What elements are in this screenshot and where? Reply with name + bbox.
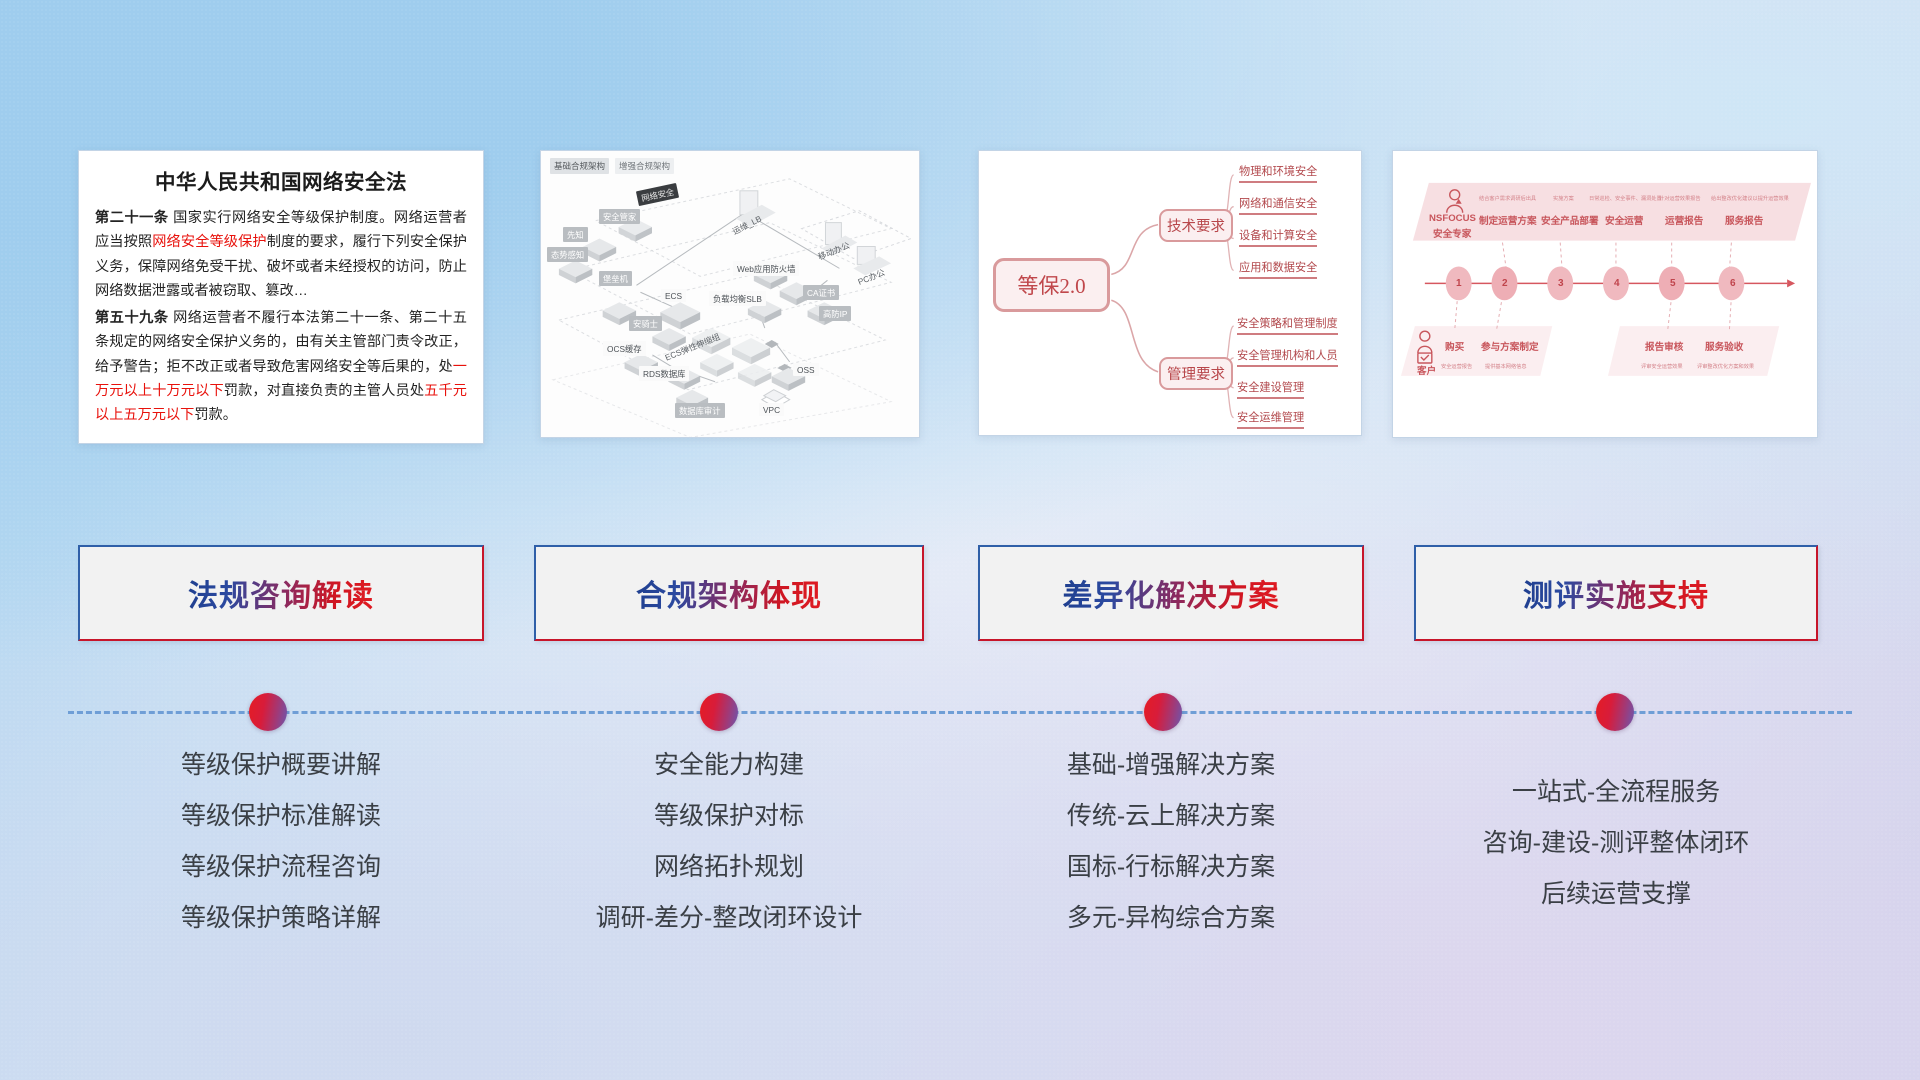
mindmap-leaf-tech-1: 物理和环境安全	[1239, 163, 1317, 183]
mindmap-leaf-mgmt-1: 安全策略和管理制度	[1237, 315, 1338, 335]
nsfocus-bottom-2-sub: 提供基本网络信息	[1485, 363, 1527, 370]
card-dengbao-mindmap[interactable]: 等保2.0 技术要求 管理要求 物理和环境安全 网络和通信安全 设备和计算安全 …	[978, 150, 1362, 436]
arch-label-situational-awareness: 态势感知	[547, 247, 588, 262]
list-item: 等级保护概要讲解	[78, 740, 484, 791]
card-cybersecurity-law[interactable]: 中华人民共和国网络安全法 第二十一条 国家实行网络安全等级保护制度。网络运营者应…	[78, 150, 484, 444]
timeline-dot-2[interactable]	[700, 693, 738, 731]
nsfocus-step-6-title: 服务报告	[1725, 213, 1763, 227]
list-item: 国标-行标解决方案	[978, 842, 1364, 893]
mindmap-root-node[interactable]: 等保2.0	[993, 258, 1110, 312]
list-item: 基础-增强解决方案	[978, 740, 1364, 791]
nsfocus-step-number-4: 4	[1614, 278, 1620, 289]
headline-label-1: 法规咨询解读	[188, 571, 374, 615]
list-item: 传统-云上解决方案	[978, 791, 1364, 842]
headline-label-3: 差异化解决方案	[1063, 571, 1280, 615]
timeline-dashed-line	[68, 711, 1852, 714]
law-text-wrapper: 中华人民共和国网络安全法 第二十一条 国家实行网络安全等级保护制度。网络运营者应…	[79, 151, 483, 438]
nsfocus-step-5-title: 运营报告	[1665, 213, 1703, 227]
nsfocus-step-number-6: 6	[1730, 278, 1736, 289]
feature-list-3: 基础-增强解决方案 传统-云上解决方案 国标-行标解决方案 多元-异构综合方案	[978, 740, 1364, 944]
nsfocus-step-2-sub: 结合客户需求调研后出具	[1479, 195, 1536, 202]
mindmap-branch-technical[interactable]: 技术要求	[1159, 209, 1233, 242]
feature-list-4: 一站式-全流程服务 咨询-建设-测评整体闭环 后续运营支撑	[1414, 767, 1818, 920]
nsfocus-step-number-2: 2	[1502, 278, 1508, 289]
nsfocus-step-number-1: 1	[1456, 278, 1462, 289]
nsfocus-customer-label: 客户	[1417, 363, 1436, 377]
image-card-row: 中华人民共和国网络安全法 第二十一条 国家实行网络安全等级保护制度。网络运营者应…	[0, 150, 1920, 450]
mindmap-leaf-mgmt-4: 安全运维管理	[1237, 409, 1304, 429]
nsfocus-bottom-2-title: 参与方案制定	[1481, 339, 1539, 353]
nsfocus-step-5-sub: 针对运营效果报告	[1659, 195, 1701, 202]
arch-label-waf: Web应用防火墙	[733, 261, 799, 276]
arch-label-ocs-cache: OCS缓存	[603, 341, 646, 356]
arch-label-security-steward: 安全管家	[599, 209, 640, 224]
list-item: 调研-差分-整改闭环设计	[534, 893, 924, 944]
card-nsfocus-process[interactable]: NSFOCUS 安全专家 制定运营方案 结合客户需求调研后出具 安全产品部署 实…	[1392, 150, 1818, 438]
nsfocus-step-4-title: 安全运营	[1605, 213, 1643, 227]
list-item: 安全能力构建	[534, 740, 924, 791]
nsfocus-step-3-title: 安全产品部署	[1541, 213, 1599, 227]
architecture-diagram: 基础合规架构 增强合规架构	[541, 151, 919, 437]
list-item: 网络拓扑规划	[534, 842, 924, 893]
mindmap-leaf-tech-2: 网络和通信安全	[1239, 195, 1317, 215]
arch-label-ca-cert: CA证书	[803, 285, 839, 300]
nsfocus-actor-line2: 安全专家	[1433, 226, 1471, 240]
headline-box-compliance-architecture[interactable]: 合规架构体现	[534, 545, 924, 641]
article-59-text-b: 罚款，对直接负责的主管人员处	[224, 383, 424, 399]
nsfocus-step-6-sub: 给出整改优化建议以提升运营效果	[1711, 195, 1789, 202]
mindmap-leaf-mgmt-3: 安全建设管理	[1237, 379, 1304, 399]
mindmap-branch-management[interactable]: 管理要求	[1159, 357, 1233, 390]
arch-label-anqishi: 安骑士	[629, 316, 662, 331]
timeline-dot-1[interactable]	[249, 693, 287, 731]
timeline-dot-4[interactable]	[1596, 693, 1634, 731]
mindmap-leaf-tech-3: 设备和计算安全	[1239, 227, 1317, 247]
timeline-dot-3[interactable]	[1144, 693, 1182, 731]
list-item: 等级保护对标	[534, 791, 924, 842]
nsfocus-step-3-sub: 实施方案	[1553, 195, 1574, 202]
law-article-21: 第二十一条 国家实行网络安全等级保护制度。网络运营者应当按照网络安全等级保护制度…	[95, 206, 467, 304]
arch-label-oss: OSS	[793, 363, 819, 376]
nsfocus-bottom-3-sub: 评审安全运营效果	[1641, 363, 1683, 370]
list-item: 咨询-建设-测评整体闭环	[1414, 818, 1818, 869]
nsfocus-step-2-title: 制定运营方案	[1479, 213, 1537, 227]
nsfocus-bottom-1-title: 购买	[1445, 339, 1464, 353]
list-item: 等级保护流程咨询	[78, 842, 484, 893]
headline-box-assessment-support[interactable]: 测评实施支持	[1414, 545, 1818, 641]
headline-label-4: 测评实施支持	[1523, 571, 1709, 615]
article-21-label: 第二十一条	[95, 210, 169, 226]
feature-list-1: 等级保护概要讲解 等级保护标准解读 等级保护流程咨询 等级保护策略详解	[78, 740, 484, 944]
arch-label-slb: 负载均衡SLB	[709, 291, 766, 306]
nsfocus-bottom-4-sub: 评审整改优化方案和效果	[1697, 363, 1754, 370]
law-title: 中华人民共和国网络安全法	[95, 165, 467, 195]
list-item: 一站式-全流程服务	[1414, 767, 1818, 818]
headline-label-2: 合规架构体现	[636, 571, 822, 615]
card-compliance-architecture[interactable]: 基础合规架构 增强合规架构	[540, 150, 920, 438]
feature-list-2: 安全能力构建 等级保护对标 网络拓扑规划 调研-差分-整改闭环设计	[534, 740, 924, 944]
list-item: 等级保护策略详解	[78, 893, 484, 944]
arch-label-xianzhi: 先知	[563, 227, 588, 242]
nsfocus-step-number-3: 3	[1558, 278, 1564, 289]
feature-list-row: 等级保护概要讲解 等级保护标准解读 等级保护流程咨询 等级保护策略详解 安全能力…	[0, 740, 1920, 990]
arch-label-db-audit: 数据库审计	[675, 403, 725, 418]
nsfocus-bottom-4-title: 服务验收	[1705, 339, 1743, 353]
timeline-connector	[0, 690, 1920, 734]
arch-label-ecs: ECS	[661, 289, 686, 302]
nsfocus-timeline-svg	[1393, 151, 1817, 438]
article-59-label: 第五十九条	[95, 310, 169, 326]
mindmap-leaf-mgmt-2: 安全管理机构和人员	[1237, 347, 1338, 367]
nsfocus-bottom-3-title: 报告审核	[1645, 339, 1683, 353]
law-article-59: 第五十九条 网络运营者不履行本法第二十一条、第二十五条规定的网络安全保护义务的，…	[95, 306, 467, 428]
nsfocus-timeline-diagram: NSFOCUS 安全专家 制定运营方案 结合客户需求调研后出具 安全产品部署 实…	[1393, 151, 1817, 437]
arch-label-anti-ddos-ip: 高防IP	[819, 306, 851, 321]
nsfocus-bottom-1-sub: 安全运营报告	[1441, 363, 1472, 370]
headline-row: 法规咨询解读 合规架构体现 差异化解决方案 测评实施支持	[0, 545, 1920, 645]
arch-label-rds: RDS数据库	[639, 366, 689, 381]
list-item: 多元-异构综合方案	[978, 893, 1364, 944]
list-item: 等级保护标准解读	[78, 791, 484, 842]
nsfocus-actor-line1: NSFOCUS	[1429, 213, 1476, 224]
nsfocus-step-4-sub: 日常巡检、安全事件、漏洞处置	[1589, 195, 1662, 202]
mindmap-leaf-tech-4: 应用和数据安全	[1239, 259, 1317, 279]
nsfocus-step-number-5: 5	[1670, 278, 1676, 289]
arch-label-vpc: VPC	[759, 403, 784, 416]
headline-box-regulation-consulting[interactable]: 法规咨询解读	[78, 545, 484, 641]
article-59-text-c: 罚款。	[194, 407, 237, 423]
mindmap-diagram: 等保2.0 技术要求 管理要求 物理和环境安全 网络和通信安全 设备和计算安全 …	[979, 151, 1361, 435]
arch-label-bastion-host: 堡垒机	[599, 271, 632, 286]
headline-box-differentiated-solution[interactable]: 差异化解决方案	[978, 545, 1364, 641]
article-21-highlight: 网络安全等级保护	[152, 234, 267, 250]
list-item: 后续运营支撑	[1414, 869, 1818, 920]
